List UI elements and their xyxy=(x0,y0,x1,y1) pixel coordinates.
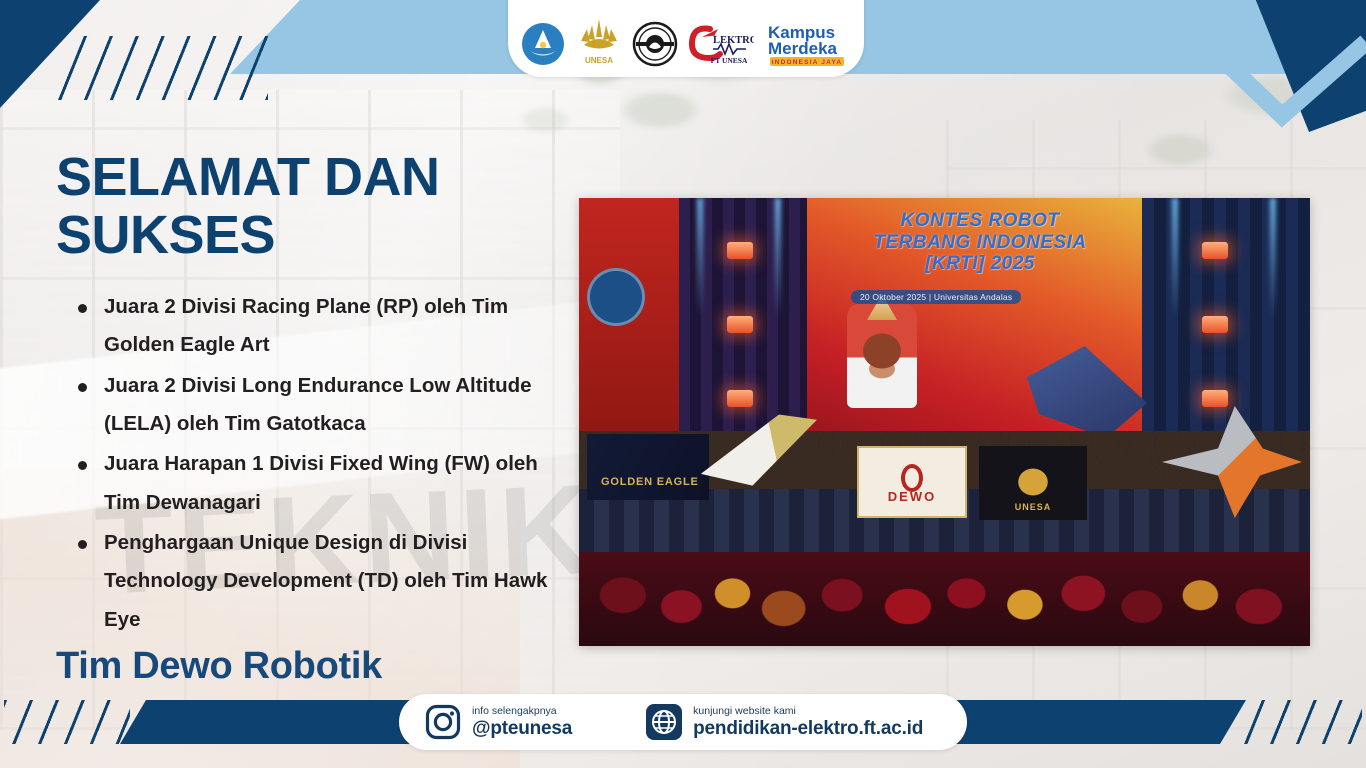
tut-wuri-handayani-logo xyxy=(520,21,566,67)
footer-website[interactable]: kunjungi website kami pendidikan-elektro… xyxy=(646,704,923,740)
website-url: pendidikan-elektro.ft.ac.id xyxy=(693,719,923,738)
top-right-chevron xyxy=(1186,24,1366,134)
event-photo: KONTES ROBOT TERBANG INDONESIA [KRTI] 20… xyxy=(579,198,1310,646)
photo-led-title: KONTES ROBOT TERBANG INDONESIA [KRTI] 20… xyxy=(815,210,1145,275)
footer-left-diagonal-stripes xyxy=(4,700,130,744)
photo-left-emblem xyxy=(587,268,645,326)
kampus-merdeka-line2: Merdeka xyxy=(768,39,838,58)
photo-led-title-line3: [KRTI] 2025 xyxy=(815,253,1145,275)
photo-stage-light xyxy=(727,316,753,333)
footer-contact-bar: info selengakpnya @pteunesa kunjungi web… xyxy=(399,694,967,750)
instagram-handle: @pteunesa xyxy=(472,719,572,738)
list-item: Juara Harapan 1 Divisi Fixed Wing (FW) o… xyxy=(72,445,572,522)
photo-light-beam xyxy=(697,198,703,318)
photo-led-title-line1: KONTES ROBOT xyxy=(815,210,1145,232)
unesa-logo-caption: UNESA xyxy=(585,56,613,65)
page-title: SELAMAT DAN SUKSES xyxy=(56,148,576,265)
photo-stage-light xyxy=(1202,390,1228,407)
photo-banner-unesa-emblem xyxy=(1011,458,1055,498)
photo-stage-light xyxy=(1202,316,1228,333)
elektro-logo-line1: LEKTRO xyxy=(713,35,754,46)
photo-banner-dewo-text: DEWO xyxy=(857,489,967,504)
footer-instagram[interactable]: info selengakpnya @pteunesa xyxy=(425,704,572,740)
instagram-icon xyxy=(425,704,461,740)
elektro-logo-line2: FT UNESA xyxy=(711,56,748,65)
photo-banner-unesa-text: UNESA xyxy=(979,502,1087,512)
website-caption: kunjungi website kami xyxy=(693,706,923,717)
photo-light-beam xyxy=(1270,198,1276,318)
photo-banner-unesa: UNESA xyxy=(979,446,1087,520)
photo-banner-dewo-mark xyxy=(901,464,923,492)
photo-banner-golden-eagle: GOLDEN EAGLE xyxy=(587,434,709,500)
list-item: Juara 2 Divisi Racing Plane (RP) oleh Ti… xyxy=(72,288,572,365)
kampus-merdeka-tagline: INDONESIA JAYA xyxy=(772,59,843,66)
elektro-ft-unesa-logo: LEKTRO FT UNESA xyxy=(688,23,754,67)
photo-banner-golden-text: GOLDEN EAGLE xyxy=(601,476,699,488)
photo-stage-light xyxy=(1202,242,1228,259)
photo-flower-arrangement xyxy=(579,552,1310,646)
globe-icon xyxy=(646,704,682,740)
poster-canvas: TEKNIK ELEKTRO xyxy=(0,0,1366,768)
photo-light-beam xyxy=(775,198,781,318)
top-left-diagonal-stripes xyxy=(58,36,268,100)
photo-left-red-panel xyxy=(579,198,679,449)
unesa-logo: UNESA xyxy=(576,15,622,67)
kampus-merdeka-logo: Kampus Merdeka INDONESIA JAYA xyxy=(764,19,852,67)
fakultas-teknik-logo xyxy=(632,21,678,67)
list-item: Juara 2 Divisi Long Endurance Low Altitu… xyxy=(72,367,572,444)
logo-bar: UNESA LEKTRO FT UNESA Kampus xyxy=(508,0,864,77)
photo-banner-dewo: DEWO xyxy=(857,446,967,518)
photo-stage-light xyxy=(727,242,753,259)
footer-right-diagonal-stripes xyxy=(1236,700,1362,744)
photo-stage-light xyxy=(727,390,753,407)
photo-led-title-line2: TERBANG INDONESIA xyxy=(815,232,1145,254)
photo-led-subtitle: 20 Oktober 2025 | Universitas Andalas xyxy=(851,290,1021,304)
team-name: Tim Dewo Robotik xyxy=(56,645,382,688)
photo-light-beam xyxy=(1172,198,1178,318)
achievement-list: Juara 2 Divisi Racing Plane (RP) oleh Ti… xyxy=(72,288,572,641)
list-item: Penghargaan Unique Design di Divisi Tech… xyxy=(72,524,572,639)
instagram-caption: info selengakpnya xyxy=(472,706,572,717)
